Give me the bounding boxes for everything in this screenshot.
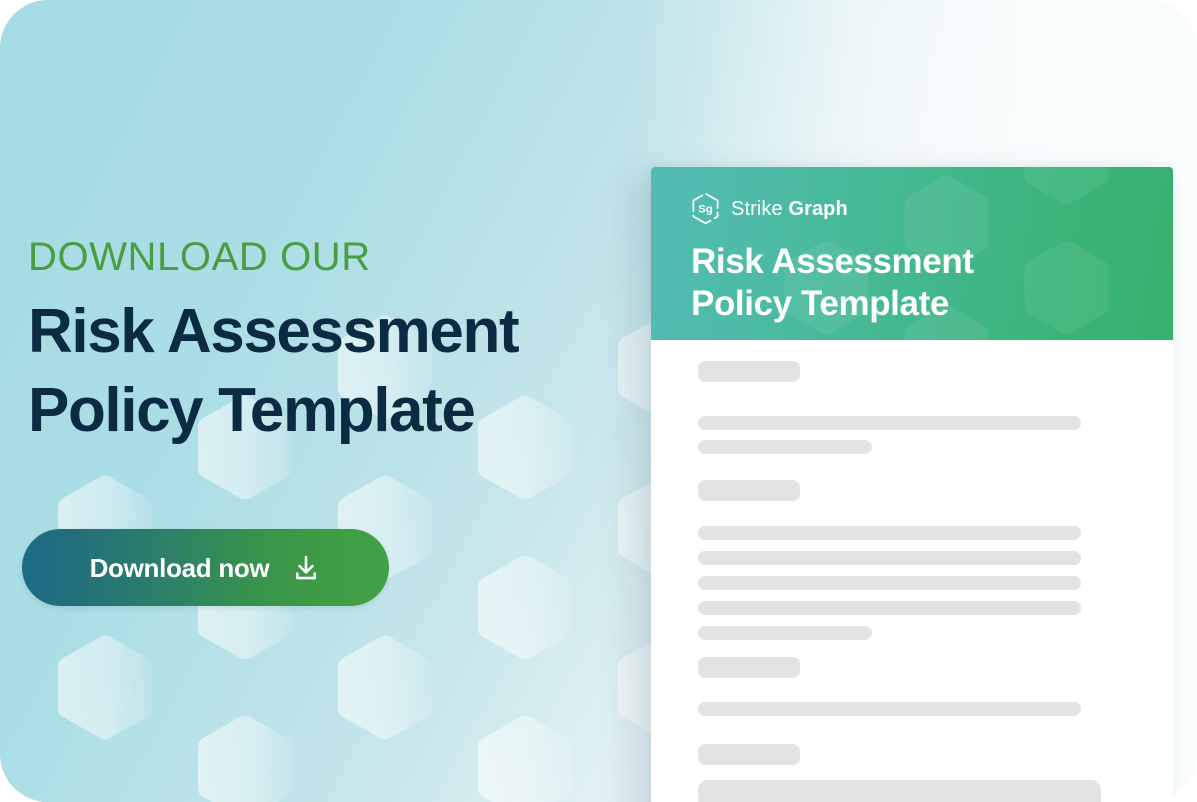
- skeleton-heading-3: [698, 657, 800, 678]
- skeleton-heading-4: [698, 744, 800, 765]
- document-title-line-2: Policy Template: [691, 283, 974, 325]
- download-now-button-label: Download now: [90, 555, 270, 581]
- document-body: [651, 340, 1173, 802]
- promo-card: DOWNLOAD OUR Risk Assessment Policy Temp…: [0, 0, 1197, 802]
- skeleton-image-block: [698, 780, 1101, 802]
- document-preview[interactable]: Sg Strike Graph Risk Assessment Policy T…: [651, 167, 1173, 802]
- skeleton-para-2-line3: [698, 576, 1081, 590]
- promo-headline-line-2: Policy Template: [28, 371, 628, 450]
- skeleton-para-1-line1: [698, 416, 1081, 430]
- promo-copy: DOWNLOAD OUR Risk Assessment Policy Temp…: [28, 236, 628, 451]
- skeleton-para-2-line5: [698, 626, 872, 640]
- skeleton-para-2-line1: [698, 526, 1081, 540]
- download-icon: [291, 553, 321, 583]
- skeleton-para-3-line1: [698, 702, 1081, 716]
- document-title-line-1: Risk Assessment: [691, 241, 974, 283]
- skeleton-para-2-line4: [698, 601, 1081, 615]
- promo-headline-line-1: Risk Assessment: [28, 292, 628, 371]
- skeleton-para-2-line2: [698, 551, 1081, 565]
- strike-graph-wordmark: Strike Graph: [731, 199, 848, 219]
- wordmark-graph: Graph: [788, 198, 847, 220]
- skeleton-heading-1: [698, 361, 800, 382]
- hexagon-outline-icon: Sg: [691, 192, 720, 225]
- promo-headline: Risk Assessment Policy Template: [28, 292, 628, 451]
- skeleton-para-1-line2: [698, 440, 872, 454]
- download-now-button[interactable]: Download now: [22, 529, 389, 606]
- document-header: Sg Strike Graph Risk Assessment Policy T…: [651, 167, 1173, 340]
- skeleton-heading-2: [698, 480, 800, 501]
- promo-eyebrow: DOWNLOAD OUR: [28, 236, 628, 278]
- document-title: Risk Assessment Policy Template: [691, 241, 974, 325]
- strike-graph-logo: Sg Strike Graph: [691, 192, 848, 225]
- wordmark-strike: Strike: [731, 198, 783, 220]
- logo-mark-text: Sg: [698, 204, 713, 216]
